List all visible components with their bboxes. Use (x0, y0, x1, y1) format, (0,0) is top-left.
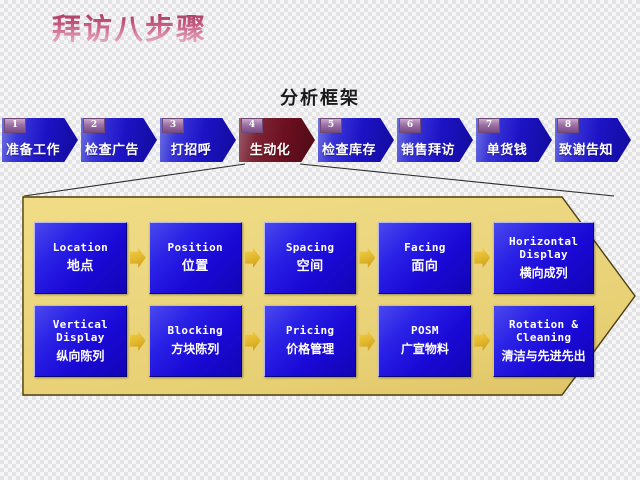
card-chinese-label: 空间 (297, 258, 324, 275)
flow-arrow-icon (127, 222, 149, 294)
card-chinese-label: 价格管理 (286, 341, 334, 358)
card-chinese-label: 面向 (411, 258, 438, 275)
step-label: 致谢告知 (555, 142, 617, 160)
framework-row-1: Location 地点 Position 位置 Spacing 空间 Facin… (34, 222, 594, 294)
step-label: 打招呼 (160, 142, 222, 160)
step-process-bar: 准备工作 1 检查广告 2 打招呼 3 生动化 4 检查库存 5 销售拜访 6 (0, 118, 640, 164)
framework-grid: Location 地点 Position 位置 Spacing 空间 Facin… (34, 222, 594, 382)
card-english-label: Pricing (286, 324, 334, 337)
step-number-badge-1: 1 (4, 118, 26, 133)
section-subtitle: 分析框架 (0, 84, 640, 110)
step-number-badge-5: 5 (320, 118, 342, 133)
step-label: 生动化 (239, 142, 301, 160)
page-title: 拜访八步骤 (52, 10, 207, 48)
card-english-label: Position (168, 241, 223, 254)
step-label: 检查库存 (318, 142, 380, 160)
card-chinese-label: 横向成列 (520, 265, 568, 282)
card-english-label: Horizontal Display (509, 235, 578, 261)
card-chinese-label: 清洁与先进先出 (502, 348, 586, 365)
framework-card-facing[interactable]: Facing 面向 (378, 222, 471, 294)
framework-card-spacing[interactable]: Spacing 空间 (264, 222, 357, 294)
step-number-badge-7: 7 (478, 118, 500, 133)
card-chinese-label: 位置 (182, 258, 209, 275)
framework-card-rotation-cleaning[interactable]: Rotation & Cleaning 清洁与先进先出 (493, 305, 594, 377)
flow-arrow-icon (242, 222, 264, 294)
card-chinese-label: 广宣物料 (401, 341, 449, 358)
step-label: 销售拜访 (397, 142, 459, 160)
framework-row-2: Vertical Display 纵向陈列 Blocking 方块陈列 Pric… (34, 305, 594, 377)
step-number-badge-8: 8 (557, 118, 579, 133)
card-chinese-label: 地点 (67, 258, 94, 275)
flow-arrow-icon (356, 222, 378, 294)
step-number-badge-2: 2 (83, 118, 105, 133)
step-label: 准备工作 (2, 142, 64, 160)
framework-card-vertical-display[interactable]: Vertical Display 纵向陈列 (34, 305, 127, 377)
card-english-label: POSM (411, 324, 439, 337)
flow-arrow-icon (356, 305, 378, 377)
framework-card-position[interactable]: Position 位置 (149, 222, 242, 294)
card-english-label: Facing (404, 241, 446, 254)
card-english-label: Spacing (286, 241, 334, 254)
flow-arrow-icon (127, 305, 149, 377)
step-label: 检查广告 (81, 142, 143, 160)
framework-card-location[interactable]: Location 地点 (34, 222, 127, 294)
framework-card-pricing[interactable]: Pricing 价格管理 (264, 305, 357, 377)
framework-card-blocking[interactable]: Blocking 方块陈列 (149, 305, 242, 377)
card-chinese-label: 纵向陈列 (56, 348, 104, 365)
card-english-label: Vertical Display (53, 318, 108, 344)
connector-right (300, 164, 614, 196)
flow-arrow-icon (471, 305, 493, 377)
flow-arrow-icon (242, 305, 264, 377)
card-english-label: Rotation & Cleaning (509, 318, 578, 344)
connector-left (24, 164, 245, 196)
slide-canvas: 拜访八步骤 分析框架 准备工作 1 检查广告 2 打招呼 3 生动化 4 检查库… (0, 0, 640, 480)
framework-card-horizontal-display[interactable]: Horizontal Display 横向成列 (493, 222, 594, 294)
card-chinese-label: 方块陈列 (171, 341, 219, 358)
framework-card-posm[interactable]: POSM 广宣物料 (378, 305, 471, 377)
flow-arrow-icon (471, 222, 493, 294)
step-number-badge-3: 3 (162, 118, 184, 133)
step-number-badge-4: 4 (241, 118, 263, 133)
step-number-badge-6: 6 (399, 118, 421, 133)
card-english-label: Blocking (168, 324, 223, 337)
card-english-label: Location (53, 241, 108, 254)
step-label: 单货钱 (476, 142, 538, 160)
